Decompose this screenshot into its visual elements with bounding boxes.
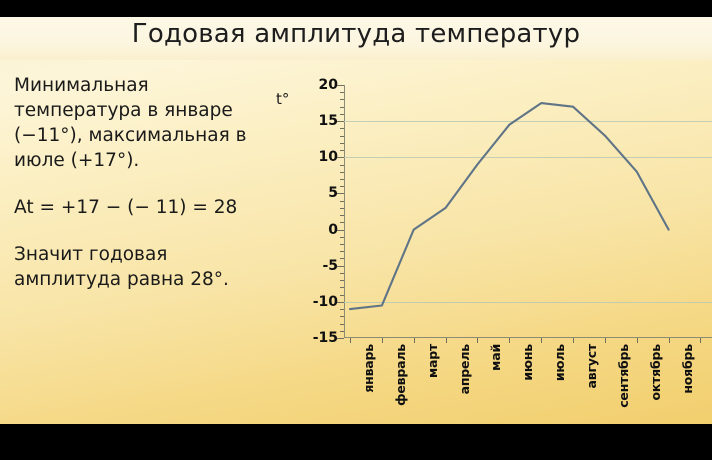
explanation-text-block: Минимальная температура в январе (−11°),…	[14, 73, 270, 292]
y-axis-tick-label: 0	[292, 222, 338, 238]
x-axis-tick	[382, 338, 383, 343]
x-axis-tick	[700, 338, 701, 343]
letterbox-bottom	[0, 424, 712, 460]
x-axis-tick-label: октябрь	[648, 344, 663, 401]
y-axis-tick	[337, 85, 344, 86]
y-axis-tick	[337, 266, 344, 267]
x-axis-tick-labels: январьфевральмартапрельмайиюньиюльавгуст…	[344, 344, 712, 422]
y-axis-tick-label: 5	[292, 185, 338, 201]
x-axis-tick	[605, 338, 606, 343]
x-axis-tick	[509, 338, 510, 343]
y-axis-tick-label: 20	[292, 77, 338, 93]
y-axis-tick	[337, 121, 344, 122]
x-axis-tick	[446, 338, 447, 343]
x-axis-tick-label: июнь	[520, 344, 535, 381]
slide-canvas: Годовая амплитуда температур Минимальная…	[0, 17, 712, 424]
letterbox-top	[0, 0, 712, 17]
temperature-line-chart: t° 20151050-5-10-15 январьфевральмартапр…	[276, 62, 712, 424]
x-axis-tick	[541, 338, 542, 343]
y-axis-tick-label: -15	[292, 330, 338, 346]
y-axis-tick	[337, 193, 344, 194]
x-axis-tick	[637, 338, 638, 343]
x-axis-tick-label: июль	[552, 344, 567, 381]
y-axis-tick	[337, 157, 344, 158]
plot-area	[344, 85, 712, 338]
x-axis-tick	[669, 338, 670, 343]
x-axis-tick-label: сентябрь	[616, 344, 631, 408]
paragraph-conclusion: Значит годовая амплитуда равна 28°.	[14, 242, 270, 292]
x-axis-tick-label: январь	[361, 344, 376, 393]
x-axis-tick-label: апрель	[457, 344, 472, 394]
y-axis-tick-labels: 20151050-5-10-15	[290, 62, 338, 352]
x-axis-tick	[414, 338, 415, 343]
paragraph-min-max: Минимальная температура в январе (−11°),…	[14, 73, 270, 173]
x-axis-tick	[573, 338, 574, 343]
y-axis-tick	[337, 338, 344, 339]
paragraph-formula: At = +17 − (− 11) = 28	[14, 195, 270, 220]
x-axis-tick-label: май	[488, 344, 503, 371]
page-title: Годовая амплитуда температур	[0, 19, 712, 49]
y-axis-tick	[337, 230, 344, 231]
y-axis-unit-label: t°	[276, 90, 289, 108]
temperature-series-line	[344, 85, 712, 338]
x-axis-tick-label: март	[425, 344, 440, 378]
y-axis-tick-label: -5	[292, 258, 338, 274]
x-axis-tick	[350, 338, 351, 343]
x-axis-tick-label: август	[584, 344, 599, 388]
y-axis-tick-label: -10	[292, 294, 338, 310]
x-axis-tick	[477, 338, 478, 343]
x-axis-tick-label: февраль	[393, 344, 408, 406]
y-axis-tick-label: 10	[292, 149, 338, 165]
y-axis-tick	[337, 302, 344, 303]
slide-frame: Годовая амплитуда температур Минимальная…	[0, 0, 712, 460]
y-axis-tick-label: 15	[292, 113, 338, 129]
x-axis-tick-label: ноябрь	[680, 344, 695, 394]
